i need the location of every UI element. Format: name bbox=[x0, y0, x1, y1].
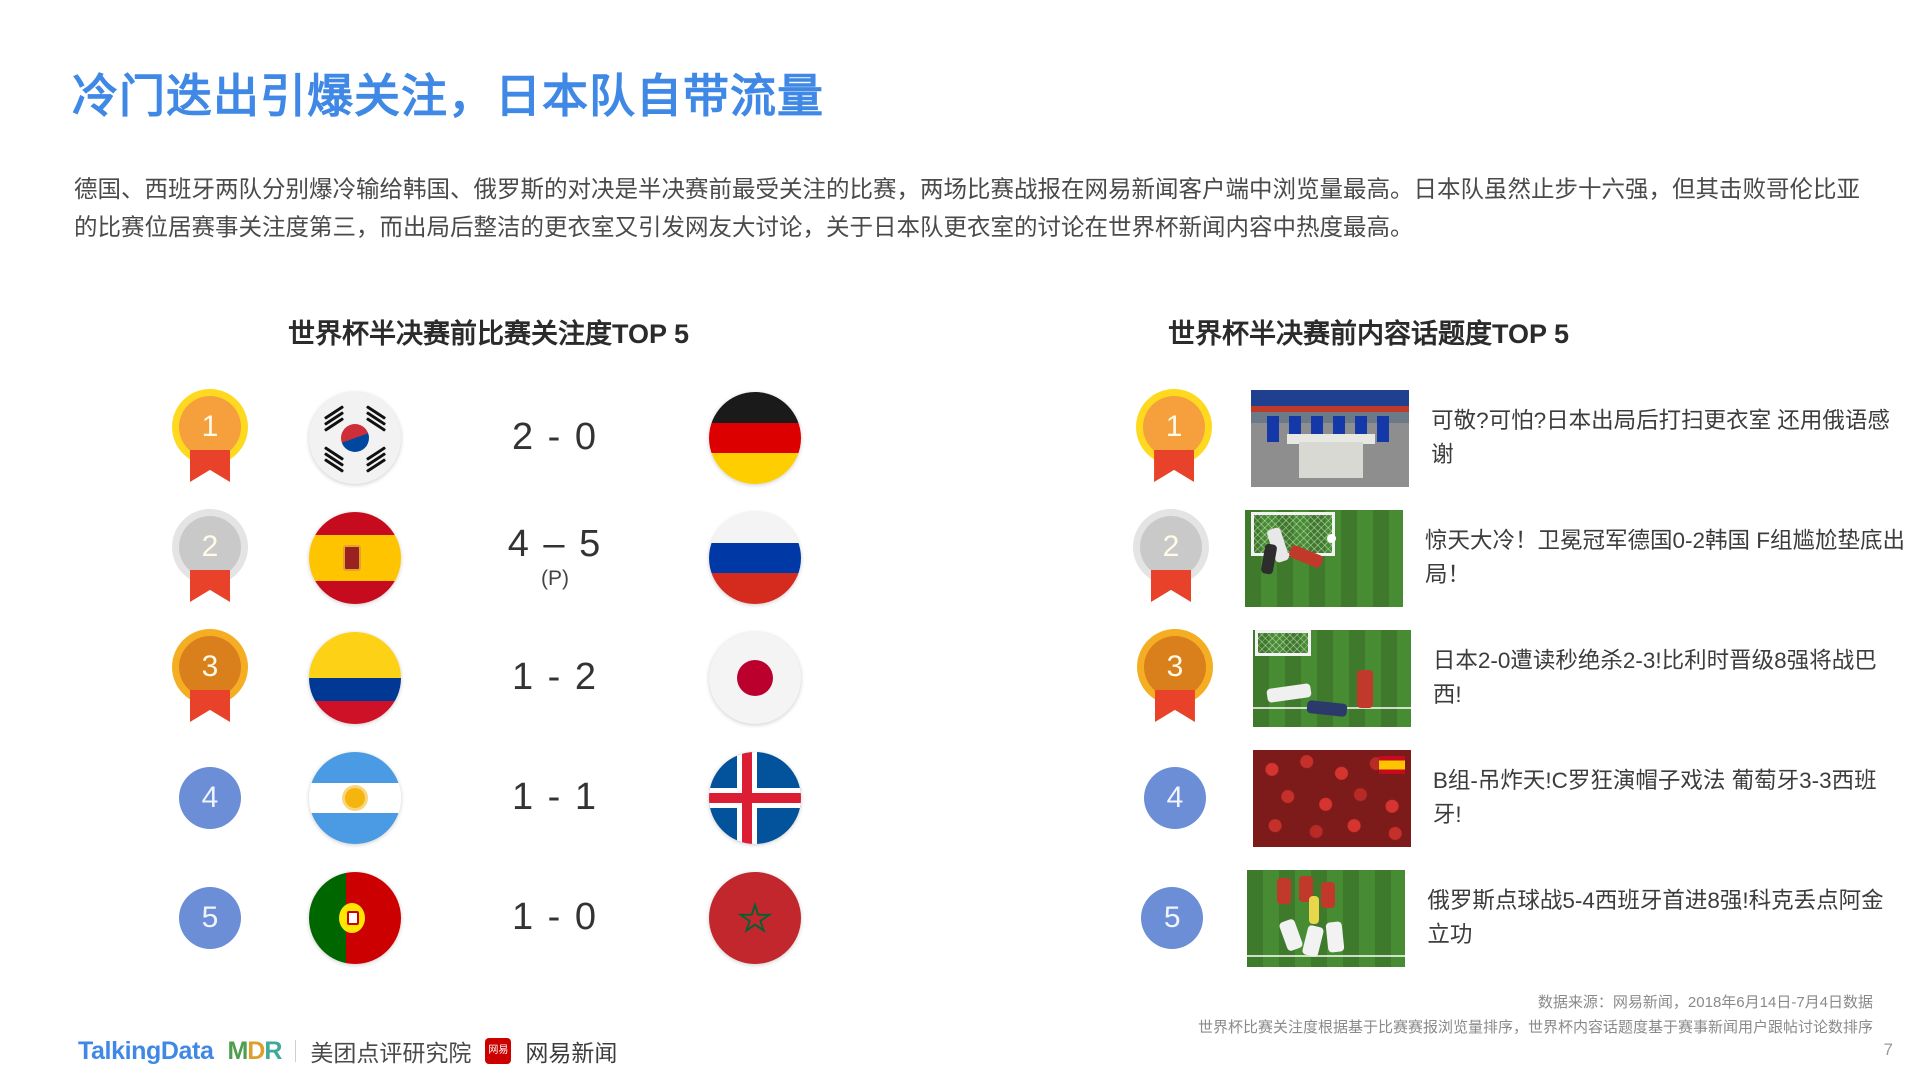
silver-medal-icon: 2 bbox=[1140, 516, 1202, 600]
table-row: 3 1 - 2 bbox=[150, 618, 910, 738]
news-thumbnail bbox=[1247, 870, 1405, 967]
ribbon-icon bbox=[190, 570, 230, 602]
medal-badge-wrap: 5 bbox=[1141, 876, 1203, 960]
medal-badge-wrap: 2 bbox=[179, 516, 241, 600]
news-thumbnail bbox=[1251, 390, 1409, 487]
list-item[interactable]: 2 惊天大冷！卫冕冠军德国0-2韩国 F组尴尬垫底出局！ bbox=[1115, 498, 1905, 618]
flag-morocco-icon bbox=[709, 872, 801, 964]
home-flag-cell bbox=[270, 752, 440, 844]
home-flag-cell bbox=[270, 872, 440, 964]
list-item[interactable]: 5 俄罗斯点球战5-4西班牙首进8强!科克丢点阿金立功 bbox=[1115, 858, 1905, 978]
list-item[interactable]: 4 B组-吊炸天!C罗狂演帽子戏法 葡萄牙3-3西班牙! bbox=[1115, 738, 1905, 858]
talkingdata-logo: TalkingData bbox=[78, 1037, 213, 1066]
score-cell: 2 - 0 bbox=[440, 417, 670, 459]
flag-argentina-icon bbox=[309, 752, 401, 844]
list-item[interactable]: 3 日本2-0遭读秒绝杀2-3!比利时晋级8强将战巴西! bbox=[1115, 618, 1905, 738]
rank-cell: 1 bbox=[150, 396, 270, 480]
news-headline[interactable]: 俄罗斯点球战5-4西班牙首进8强!科克丢点阿金立功 bbox=[1427, 884, 1905, 952]
left-section-header: 世界杯半决赛前比赛关注度TOP 5 bbox=[288, 312, 689, 351]
flag-japan-icon bbox=[709, 632, 801, 724]
news-headline[interactable]: B组-吊炸天!C罗狂演帽子戏法 葡萄牙3-3西班牙! bbox=[1433, 764, 1905, 832]
medal-badge-wrap: 4 bbox=[179, 756, 241, 840]
news-headline[interactable]: 惊天大冷！卫冕冠军德国0-2韩国 F组尴尬垫底出局！ bbox=[1425, 524, 1905, 592]
lede-paragraph: 德国、西班牙两队分别爆冷输给韩国、俄罗斯的对决是半决赛前最受关注的比赛，两场比赛… bbox=[74, 170, 1864, 246]
bronze-medal-icon: 3 bbox=[1144, 636, 1206, 720]
flag-colombia-icon bbox=[309, 632, 401, 724]
score-cell: 1 - 0 bbox=[440, 897, 670, 939]
news-ranking-list: 1 可敬?可怕?日本出局后打扫更衣室 还用俄语感谢 2 bbox=[1115, 378, 1905, 978]
logo-bar: TalkingData MDR 美团点评研究院 网易 网易新闻 bbox=[78, 1034, 617, 1068]
divider bbox=[295, 1040, 296, 1062]
rank-number: 4 bbox=[1167, 781, 1184, 815]
rank-circle-icon: 4 bbox=[179, 767, 241, 829]
rank-number: 2 bbox=[1140, 516, 1202, 578]
medal-badge-wrap: 1 bbox=[1143, 396, 1205, 480]
score-value: 1 - 0 bbox=[440, 897, 670, 937]
table-row: 2 4 – 5 (P) bbox=[150, 498, 910, 618]
rank-circle-icon: 5 bbox=[179, 887, 241, 949]
score-value: 1 - 1 bbox=[440, 777, 670, 817]
news-thumbnail bbox=[1253, 750, 1411, 847]
away-flag-cell bbox=[670, 752, 840, 844]
rank-cell: 3 bbox=[150, 636, 270, 720]
netease-news-logo: 网易新闻 bbox=[525, 1034, 617, 1068]
rank-number: 5 bbox=[202, 901, 219, 935]
rank-number: 1 bbox=[179, 396, 241, 458]
home-flag-cell bbox=[270, 392, 440, 484]
match-ranking-list: 1 bbox=[150, 378, 910, 978]
score-value: 4 – 5 bbox=[440, 524, 670, 564]
mdr-logo: MDR bbox=[227, 1037, 281, 1066]
ribbon-icon bbox=[1155, 690, 1195, 722]
news-headline[interactable]: 可敬?可怕?日本出局后打扫更衣室 还用俄语感谢 bbox=[1431, 404, 1905, 472]
away-flag-cell bbox=[670, 512, 840, 604]
meituan-research-logo: 美团点评研究院 bbox=[310, 1034, 471, 1068]
rank-number: 4 bbox=[202, 781, 219, 815]
flag-portugal-icon bbox=[309, 872, 401, 964]
news-thumbnail bbox=[1253, 630, 1411, 727]
medal-badge-wrap: 3 bbox=[179, 636, 241, 720]
flag-germany-icon bbox=[709, 392, 801, 484]
news-thumbnail bbox=[1245, 510, 1403, 607]
rank-circle-icon: 5 bbox=[1141, 887, 1203, 949]
score-cell: 1 - 2 bbox=[440, 657, 670, 699]
gold-medal-icon: 1 bbox=[179, 396, 241, 480]
gold-medal-icon: 1 bbox=[1143, 396, 1205, 480]
home-flag-cell bbox=[270, 632, 440, 724]
table-row: 1 bbox=[150, 378, 910, 498]
score-cell: 4 – 5 (P) bbox=[440, 524, 670, 592]
away-flag-cell bbox=[670, 392, 840, 484]
list-item[interactable]: 1 可敬?可怕?日本出局后打扫更衣室 还用俄语感谢 bbox=[1115, 378, 1905, 498]
source-note: 数据来源：网易新闻，2018年6月14日-7月4日数据 世界杯比赛关注度根据基于… bbox=[1198, 990, 1873, 1040]
ribbon-icon bbox=[1151, 570, 1191, 602]
away-flag-cell bbox=[670, 872, 840, 964]
rank-cell: 4 bbox=[1115, 756, 1235, 840]
rank-number: 3 bbox=[179, 636, 241, 698]
table-row: 4 1 - 1 bbox=[150, 738, 910, 858]
source-line-2: 世界杯比赛关注度根据基于比赛赛报浏览量排序，世界杯内容话题度基于赛事新闻用户跟帖… bbox=[1198, 1015, 1873, 1040]
medal-badge-wrap: 1 bbox=[179, 396, 241, 480]
rank-cell: 3 bbox=[1115, 636, 1235, 720]
rank-cell: 4 bbox=[150, 756, 270, 840]
source-line-1: 数据来源：网易新闻，2018年6月14日-7月4日数据 bbox=[1198, 990, 1873, 1015]
medal-badge-wrap: 5 bbox=[179, 876, 241, 960]
rank-cell: 2 bbox=[1115, 516, 1227, 600]
page-title: 冷门迭出引爆关注，日本队自带流量 bbox=[72, 60, 824, 126]
ribbon-icon bbox=[190, 690, 230, 722]
rank-cell: 2 bbox=[150, 516, 270, 600]
news-headline[interactable]: 日本2-0遭读秒绝杀2-3!比利时晋级8强将战巴西! bbox=[1433, 644, 1905, 712]
home-flag-cell bbox=[270, 512, 440, 604]
score-cell: 1 - 1 bbox=[440, 777, 670, 819]
rank-cell: 5 bbox=[1115, 876, 1229, 960]
rank-cell: 5 bbox=[150, 876, 270, 960]
away-flag-cell bbox=[670, 632, 840, 724]
score-note: (P) bbox=[440, 566, 670, 592]
netease-icon: 网易 bbox=[485, 1038, 511, 1064]
slide: 冷门迭出引爆关注，日本队自带流量 德国、西班牙两队分别爆冷输给韩国、俄罗斯的对决… bbox=[0, 0, 1921, 1080]
rank-cell: 1 bbox=[1115, 396, 1233, 480]
flag-south-korea-icon bbox=[309, 392, 401, 484]
medal-badge-wrap: 4 bbox=[1144, 756, 1206, 840]
ribbon-icon bbox=[1154, 450, 1194, 482]
ribbon-icon bbox=[190, 450, 230, 482]
score-value: 2 - 0 bbox=[440, 417, 670, 457]
rank-number: 2 bbox=[179, 516, 241, 578]
table-row: 5 1 - 0 bbox=[150, 858, 910, 978]
medal-badge-wrap: 2 bbox=[1140, 516, 1202, 600]
flag-russia-icon bbox=[709, 512, 801, 604]
silver-medal-icon: 2 bbox=[179, 516, 241, 600]
page-number: 7 bbox=[1884, 1040, 1893, 1060]
rank-number: 5 bbox=[1164, 901, 1181, 935]
rank-number: 1 bbox=[1143, 396, 1205, 458]
score-value: 1 - 2 bbox=[440, 657, 670, 697]
flag-spain-icon bbox=[309, 512, 401, 604]
medal-badge-wrap: 3 bbox=[1144, 636, 1206, 720]
rank-number: 3 bbox=[1144, 636, 1206, 698]
flag-iceland-icon bbox=[709, 752, 801, 844]
right-section-header: 世界杯半决赛前内容话题度TOP 5 bbox=[1168, 312, 1569, 351]
bronze-medal-icon: 3 bbox=[179, 636, 241, 720]
rank-circle-icon: 4 bbox=[1144, 767, 1206, 829]
